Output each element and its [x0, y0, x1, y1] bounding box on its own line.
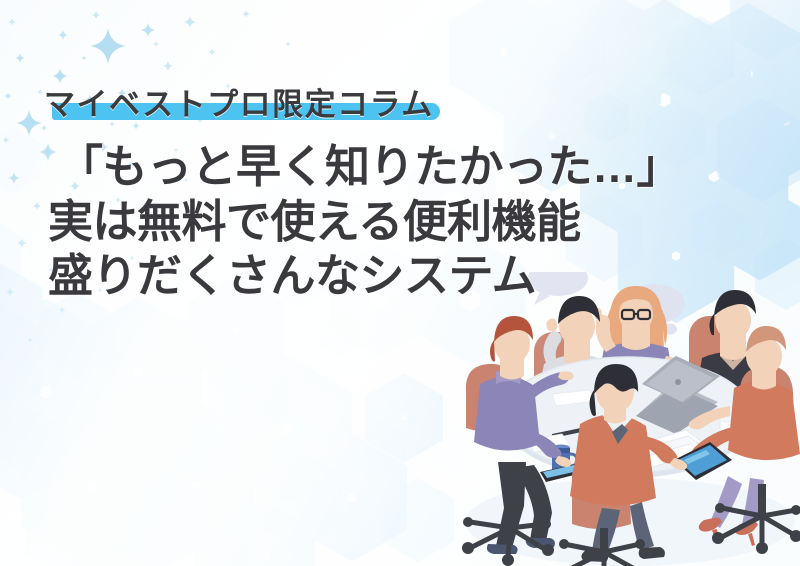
subtitle-text: マイベストプロ限定コラム: [44, 87, 434, 122]
headline-text-block: マイベストプロ限定コラム 「もっと早く知りたかった…」 実は無料で使える便利機能…: [44, 88, 744, 303]
meeting-illustration: [452, 272, 800, 566]
column-banner: マイベストプロ限定コラム 「もっと早く知りたかった…」 実は無料で使える便利機能…: [0, 0, 800, 566]
headline-line-3: 盛りだくさんなシステム: [48, 249, 744, 303]
headline-line-2: 実は無料で使える便利機能: [48, 195, 744, 249]
subtitle-wrapper: マイベストプロ限定コラム: [44, 88, 434, 122]
headline-line-1: 「もっと早く知りたかった…」: [58, 140, 744, 194]
